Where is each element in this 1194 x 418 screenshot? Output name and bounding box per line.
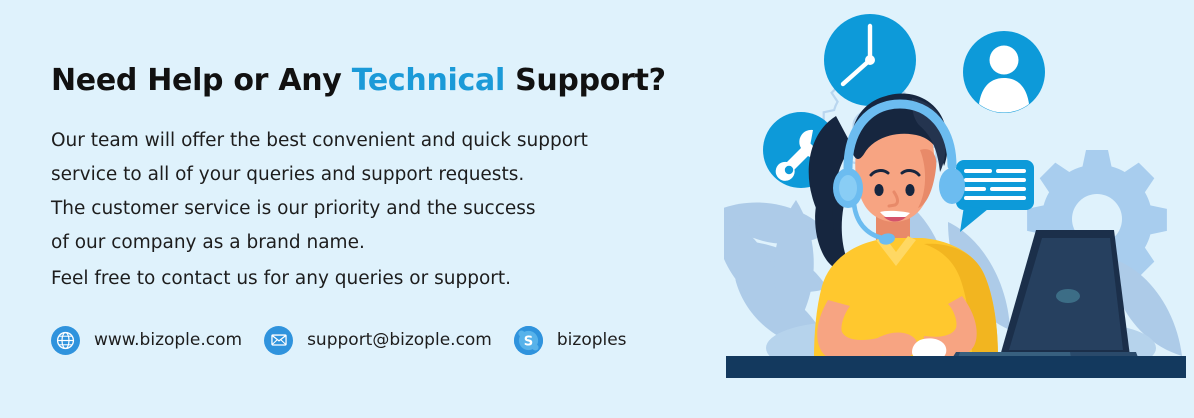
closing-paragraph: Feel free to contact us for any queries … (51, 262, 511, 296)
contact-row: www.bizople.com support@bizople.com (51, 320, 627, 360)
desk (726, 356, 1186, 378)
text-content: Need Help or Any Technical Support? Our … (51, 0, 741, 418)
clock-icon (824, 14, 916, 106)
body-line: The customer service is our priority and… (51, 192, 731, 226)
chat-speech-bubble-icon (956, 160, 1034, 232)
contact-item-website[interactable]: www.bizople.com (51, 320, 242, 360)
contact-label-skype: bizoples (557, 330, 627, 350)
headline-part-2: Support? (505, 63, 666, 98)
skype-icon: S (514, 326, 543, 355)
page-title: Need Help or Any Technical Support? (51, 63, 666, 98)
contact-item-skype[interactable]: S bizoples (514, 320, 627, 360)
contact-item-email[interactable]: support@bizople.com (264, 320, 492, 360)
envelope-icon (264, 326, 293, 355)
globe-icon (51, 326, 80, 355)
body-line: service to all of your queries and suppo… (51, 158, 731, 192)
support-agent-illustration (724, 0, 1194, 418)
headline-accent-word: Technical (352, 63, 505, 98)
support-banner: Need Help or Any Technical Support? Our … (0, 0, 1194, 418)
body-line: of our company as a brand name. (51, 226, 731, 260)
body-paragraph: Our team will offer the best convenient … (51, 124, 731, 260)
contact-label-email: support@bizople.com (307, 330, 492, 350)
user-avatar-icon (963, 31, 1045, 113)
support-agent-figure (809, 94, 998, 366)
svg-text:S: S (524, 334, 533, 349)
headline-part-1: Need Help or Any (51, 63, 352, 98)
body-line: Our team will offer the best convenient … (51, 124, 731, 158)
contact-label-website: www.bizople.com (94, 330, 242, 350)
